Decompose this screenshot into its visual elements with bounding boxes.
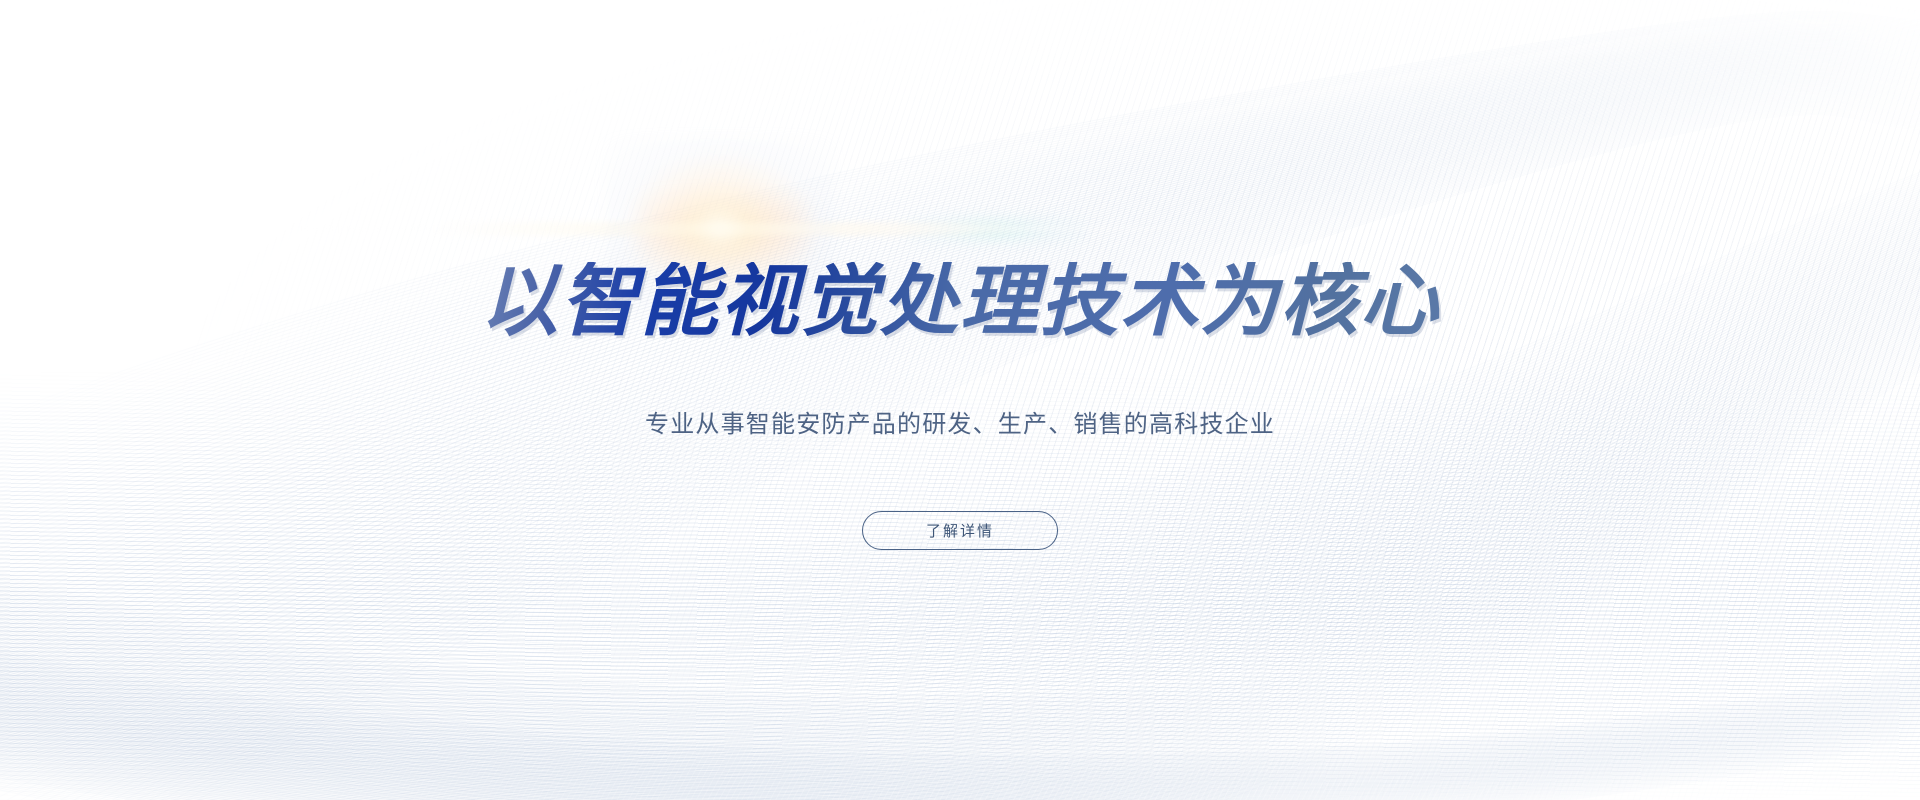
hero-banner: 以智能视觉处理技术为核心 专业从事智能安防产品的研发、生产、销售的高科技企业 了… bbox=[0, 0, 1920, 800]
learn-more-button[interactable]: 了解详情 bbox=[862, 511, 1058, 550]
hero-content: 以智能视觉处理技术为核心 专业从事智能安防产品的研发、生产、销售的高科技企业 了… bbox=[0, 0, 1920, 800]
hero-subtitle: 专业从事智能安防产品的研发、生产、销售的高科技企业 bbox=[645, 404, 1275, 439]
hero-headline: 以智能视觉处理技术为核心 bbox=[480, 262, 1440, 340]
